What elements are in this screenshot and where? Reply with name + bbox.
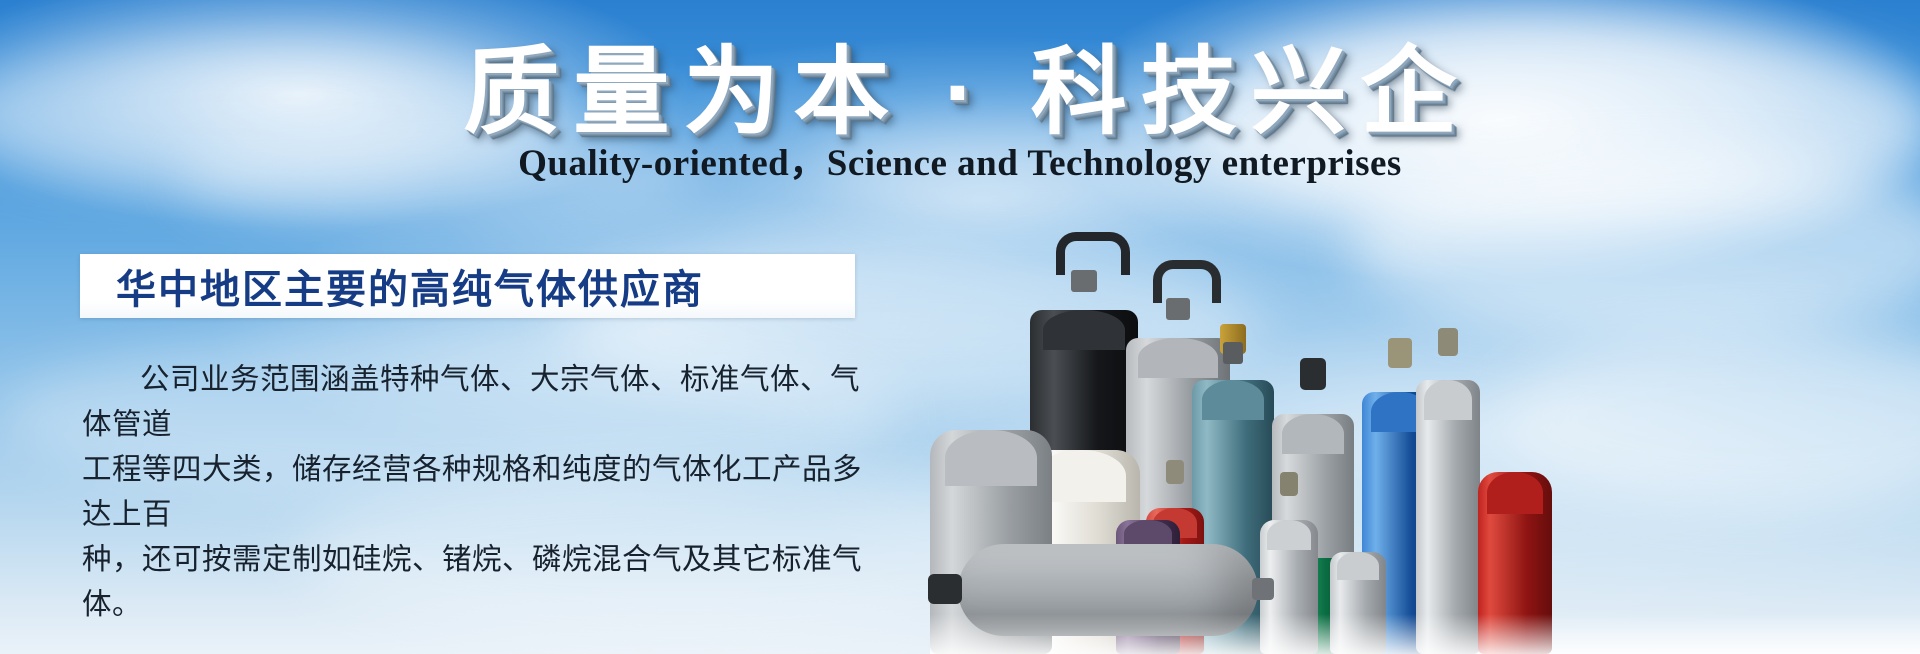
description-line-1: 公司业务范围涵盖特种气体、大宗气体、标准气体、气体管道: [82, 358, 872, 448]
description-line-3: 种，还可按需定制如硅烷、锗烷、磷烷混合气及其它标准气体。: [82, 538, 872, 628]
photo-ground-fade: [930, 614, 1920, 654]
hero-banner: 质量为本 · 科技兴企 Quality-oriented，Science and…: [0, 0, 1920, 654]
banner-description: 公司业务范围涵盖特种气体、大宗气体、标准气体、气体管道 工程等四大类，储存经营各…: [82, 358, 872, 628]
slogan-text: 华中地区主要的高纯气体供应商: [80, 257, 704, 315]
slogan-box: 华中地区主要的高纯气体供应商: [80, 254, 855, 318]
description-line-2: 工程等四大类，储存经营各种规格和纯度的气体化工产品多达上百: [82, 448, 872, 538]
silver-cylinder: [1416, 354, 1480, 654]
gas-cylinders-photo: [930, 0, 1920, 654]
